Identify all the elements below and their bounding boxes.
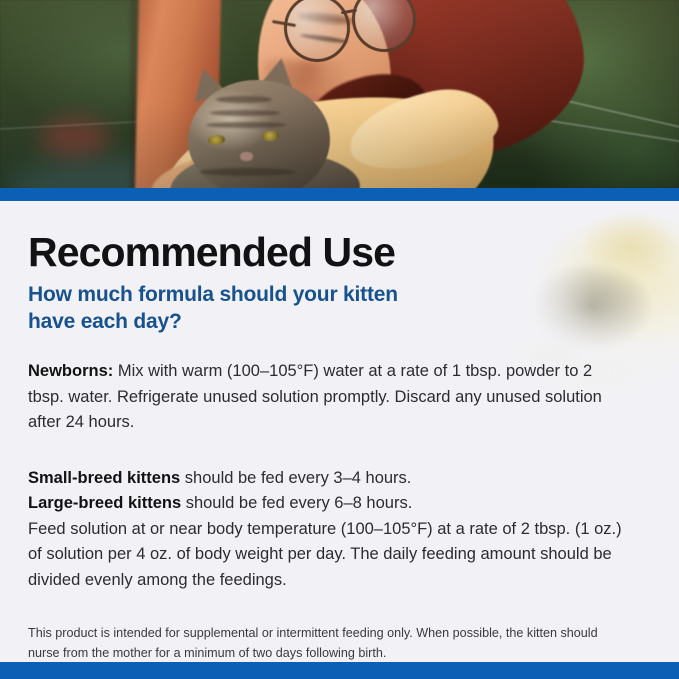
newborns-paragraph: Newborns: Mix with warm (100–105°F) wate… bbox=[28, 359, 628, 436]
newborns-text: Mix with warm (100–105°F) water at a rat… bbox=[28, 362, 602, 431]
small-breed-label: Small-breed kittens bbox=[28, 469, 180, 487]
content-panel: Recommended Use How much formula should … bbox=[0, 201, 679, 662]
page-subtitle: How much formula should your kitten have… bbox=[28, 281, 428, 335]
hero-color-grade bbox=[0, 0, 679, 188]
large-breed-text: should be fed every 6–8 hours. bbox=[181, 494, 412, 512]
fineprint-disclaimer: This product is intended for supplementa… bbox=[28, 623, 608, 662]
hero-photo bbox=[0, 0, 679, 188]
small-breed-text: should be fed every 3–4 hours. bbox=[180, 469, 411, 487]
content-column: Recommended Use How much formula should … bbox=[0, 201, 679, 662]
large-breed-line: Large-breed kittens should be fed every … bbox=[28, 491, 628, 517]
product-info-page: Recommended Use How much formula should … bbox=[0, 0, 679, 679]
page-title: Recommended Use bbox=[28, 227, 651, 277]
large-breed-label: Large-breed kittens bbox=[28, 494, 181, 512]
newborns-label: Newborns: bbox=[28, 362, 113, 380]
bottom-blue-divider bbox=[0, 662, 679, 679]
feeding-rate-text: Feed solution at or near body temperatur… bbox=[28, 517, 628, 594]
feeding-paragraph: Small-breed kittens should be fed every … bbox=[28, 466, 628, 594]
top-blue-divider bbox=[0, 188, 679, 201]
small-breed-line: Small-breed kittens should be fed every … bbox=[28, 466, 628, 492]
